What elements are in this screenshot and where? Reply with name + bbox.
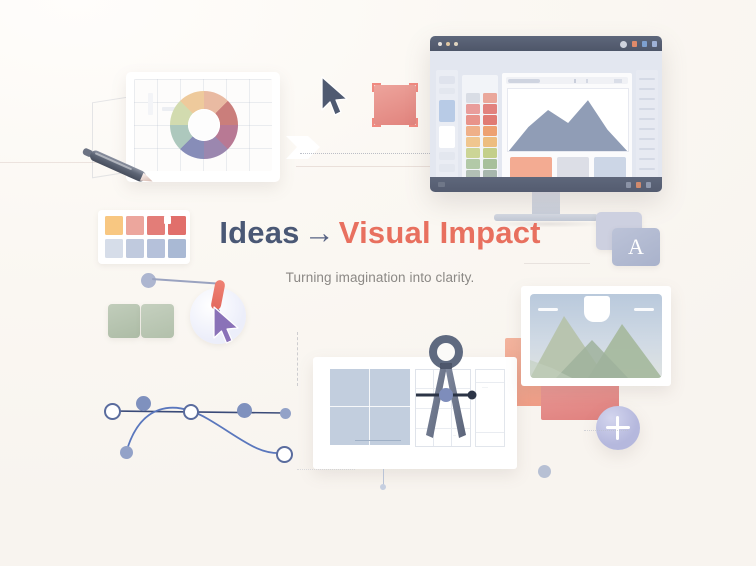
landscape-image bbox=[530, 294, 662, 378]
tool-item[interactable] bbox=[439, 88, 455, 94]
canvas-block-coral[interactable] bbox=[510, 157, 552, 179]
curve-anchor[interactable] bbox=[183, 404, 199, 420]
selection-handle[interactable] bbox=[416, 118, 418, 127]
window-titlebar[interactable] bbox=[430, 36, 662, 51]
selection-handle[interactable] bbox=[372, 83, 374, 92]
landscape-image-card[interactable] bbox=[521, 286, 671, 386]
palette-swatch[interactable] bbox=[105, 239, 123, 258]
green-swatch-right[interactable] bbox=[141, 304, 174, 338]
background-guide-line-left bbox=[0, 162, 104, 163]
area-chart-svg bbox=[508, 89, 628, 151]
add-button[interactable] bbox=[596, 406, 640, 450]
tool-item-active[interactable] bbox=[439, 100, 455, 122]
blueprint-stem-dot[interactable] bbox=[380, 484, 386, 490]
window-maximize-dot[interactable] bbox=[454, 42, 458, 46]
palette-swatch[interactable] bbox=[147, 216, 165, 235]
canvas-toolbar-tick bbox=[586, 79, 588, 83]
palette-swatch[interactable] bbox=[126, 216, 144, 235]
artboard-chart[interactable] bbox=[507, 88, 629, 152]
design-app-window[interactable] bbox=[430, 36, 662, 192]
swatch-cell[interactable] bbox=[483, 126, 497, 136]
swatch-cell[interactable] bbox=[483, 104, 497, 114]
swatch-cell[interactable] bbox=[466, 159, 480, 169]
left-toolbar[interactable] bbox=[436, 70, 458, 188]
swatch-cell[interactable] bbox=[483, 137, 497, 147]
curve-anchor[interactable] bbox=[276, 446, 293, 463]
tool-item[interactable] bbox=[439, 76, 455, 84]
flow-arrow-icon bbox=[286, 132, 320, 162]
tool-item[interactable] bbox=[439, 152, 455, 160]
palette-selection-notch bbox=[164, 216, 171, 224]
bezier-curve-editor[interactable] bbox=[100, 355, 310, 475]
layout-grid-block[interactable] bbox=[330, 369, 410, 445]
canvas-area[interactable] bbox=[502, 73, 632, 187]
blueprint-dotted-connector bbox=[297, 469, 355, 470]
swatch-cell[interactable] bbox=[483, 148, 497, 158]
palette-swatch[interactable] bbox=[126, 239, 144, 258]
statusbar-icon[interactable] bbox=[626, 182, 631, 188]
curve-anchor[interactable] bbox=[104, 403, 121, 420]
letter-a-icon: A bbox=[612, 228, 660, 266]
color-wheel-center bbox=[188, 109, 220, 141]
illustration-canvas: A Ideas→Visual Impact Turning imaginatio… bbox=[0, 0, 756, 566]
titlebar-globe-icon[interactable] bbox=[620, 41, 627, 48]
window-body bbox=[430, 51, 662, 177]
curve-control-point[interactable] bbox=[136, 396, 151, 411]
connector-node[interactable] bbox=[141, 273, 156, 288]
titlebar-panel-icon[interactable] bbox=[652, 41, 657, 47]
background-guide-line-right bbox=[524, 263, 590, 264]
canvas-block-blue[interactable] bbox=[594, 157, 626, 179]
design-tablet[interactable] bbox=[126, 72, 280, 182]
tablet-screen bbox=[134, 79, 272, 171]
window-statusbar bbox=[430, 177, 662, 192]
palette-swatch[interactable] bbox=[147, 239, 165, 258]
canvas-toolbar-fill bbox=[508, 79, 540, 83]
connector-line bbox=[152, 278, 218, 285]
headline-part-1: Ideas bbox=[219, 215, 299, 250]
fab-dotted-connector bbox=[584, 430, 628, 431]
swatch-cell[interactable] bbox=[466, 104, 480, 114]
green-swatch-left[interactable] bbox=[108, 304, 140, 338]
statusbar-icon[interactable] bbox=[438, 182, 445, 187]
palette-swatch[interactable] bbox=[105, 216, 123, 235]
swatch-cell[interactable] bbox=[466, 93, 480, 103]
statusbar-icon[interactable] bbox=[636, 182, 641, 188]
right-panel[interactable] bbox=[636, 70, 658, 188]
headline-arrow-icon: → bbox=[300, 215, 339, 250]
tool-item[interactable] bbox=[439, 126, 455, 148]
layout-blueprint-card[interactable]: — —— bbox=[313, 357, 517, 469]
blueprint-guide-vertical bbox=[297, 332, 298, 386]
swatch-cell[interactable] bbox=[466, 126, 480, 136]
swatch-cell[interactable] bbox=[466, 115, 480, 125]
canvas-block-grey[interactable] bbox=[557, 157, 589, 179]
swatch-cell[interactable] bbox=[483, 115, 497, 125]
page-title: Ideas→Visual Impact bbox=[210, 215, 550, 251]
selection-handle[interactable] bbox=[416, 83, 418, 92]
flow-connector-dotted bbox=[300, 153, 430, 154]
tablet-side-chip bbox=[148, 93, 153, 115]
headline-part-2: Visual Impact bbox=[339, 215, 541, 250]
titlebar-info-icon[interactable] bbox=[642, 41, 647, 47]
cursor-arrow-icon[interactable] bbox=[320, 76, 350, 118]
plus-icon bbox=[606, 426, 630, 429]
layout-underline bbox=[355, 440, 401, 441]
curve-control-point[interactable] bbox=[120, 446, 133, 459]
curve-anchor[interactable] bbox=[237, 403, 252, 418]
selection-handle[interactable] bbox=[372, 118, 374, 127]
lower-connector-node[interactable] bbox=[538, 465, 551, 478]
canvas-toolbar-tick bbox=[614, 79, 622, 83]
window-close-dot[interactable] bbox=[438, 42, 442, 46]
compass-divider-icon[interactable] bbox=[410, 333, 482, 451]
swatch-cell[interactable] bbox=[483, 93, 497, 103]
curve-anchor[interactable] bbox=[280, 408, 291, 419]
statusbar-icon[interactable] bbox=[646, 182, 651, 188]
purple-cursor-icon[interactable] bbox=[212, 306, 242, 346]
color-palette-card[interactable] bbox=[98, 210, 190, 264]
mountains-svg bbox=[530, 294, 662, 378]
titlebar-alert-icon[interactable] bbox=[632, 41, 637, 47]
canvas-toolbar-tick bbox=[574, 79, 576, 83]
selected-shape[interactable] bbox=[374, 85, 416, 125]
window-minimize-dot[interactable] bbox=[446, 42, 450, 46]
swatch-cell[interactable] bbox=[483, 159, 497, 169]
swatch-cell[interactable] bbox=[466, 148, 480, 158]
swatch-cell[interactable] bbox=[466, 137, 480, 147]
palette-swatch[interactable] bbox=[168, 239, 186, 258]
page-subtitle: Turning imagination into clarity. bbox=[210, 270, 550, 285]
tool-item[interactable] bbox=[439, 164, 455, 172]
flow-connector-thin bbox=[296, 166, 440, 167]
